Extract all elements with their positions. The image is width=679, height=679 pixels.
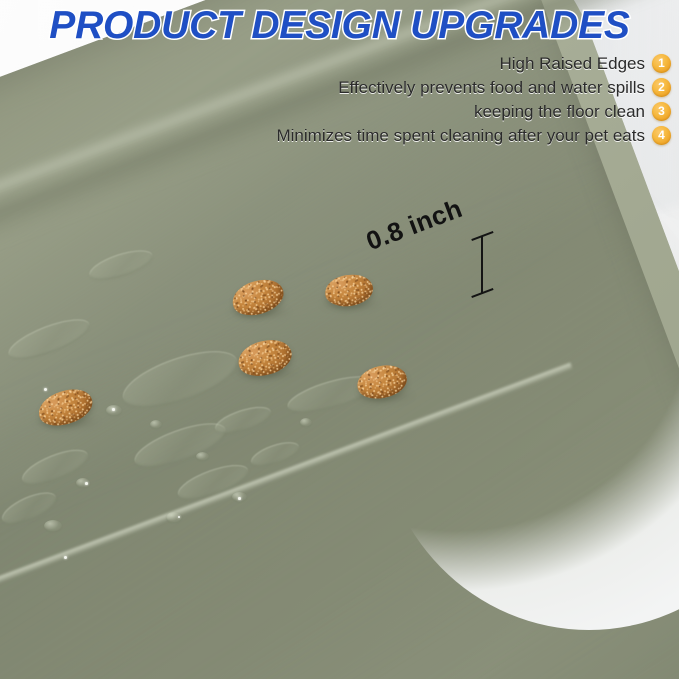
feature-number-badge: 1 <box>652 54 671 73</box>
feature-item-label: High Raised Edges <box>499 54 645 74</box>
feature-number-badge: 3 <box>652 102 671 121</box>
glint-5 <box>238 497 241 500</box>
feature-item: keeping the floor clean3 <box>31 100 671 123</box>
feature-list: High Raised Edges1Effectively prevents f… <box>31 52 671 148</box>
droplet-2 <box>150 420 162 429</box>
feature-item: Minimizes time spent cleaning after your… <box>31 124 671 147</box>
feature-item: Effectively prevents food and water spil… <box>31 76 671 99</box>
feature-item-label: Effectively prevents food and water spil… <box>338 78 645 98</box>
droplet-5 <box>44 520 62 532</box>
bracket-vertical-line <box>481 236 483 294</box>
glint-6 <box>178 516 180 518</box>
droplet-7 <box>300 418 312 427</box>
glint-2 <box>112 408 115 411</box>
dimension-bracket-icon <box>470 234 494 296</box>
glint-1 <box>44 388 47 391</box>
feature-item-label: Minimizes time spent cleaning after your… <box>276 126 645 146</box>
droplet-1 <box>106 405 122 416</box>
feature-number-badge: 4 <box>652 126 671 145</box>
glint-3 <box>85 482 88 485</box>
page-title: PRODUCT DESIGN UPGRADES <box>0 5 679 47</box>
droplet-3 <box>76 478 90 488</box>
droplet-4 <box>196 452 209 461</box>
feature-item-label: keeping the floor clean <box>474 102 645 122</box>
feature-item: High Raised Edges1 <box>31 52 671 75</box>
feature-number-badge: 2 <box>652 78 671 97</box>
glint-4 <box>64 556 67 559</box>
product-marketing-image: 0.8 inch PRODUCT DESIGN UPGRADES High Ra… <box>0 0 679 679</box>
